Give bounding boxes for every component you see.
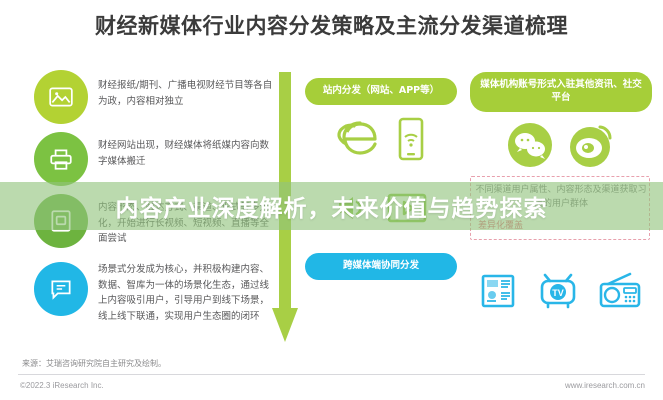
- newspaper-icon: [480, 272, 518, 315]
- wechat-icon: [507, 122, 553, 173]
- right-bottom-icons: TV: [470, 272, 652, 315]
- page-title: 财经新媒体行业内容分发策略及主流分发渠道梳理: [0, 10, 663, 40]
- website-url[interactable]: www.iresearch.com.cn: [565, 381, 645, 390]
- tv-icon: TV: [538, 272, 578, 315]
- copyright-text: ©2022.3 iResearch Inc.: [20, 381, 104, 390]
- right-top-pill: 媒体机构账号形式入驻其他资讯、社交平台: [470, 72, 652, 112]
- infographic-page: 财经新媒体行业内容分发策略及主流分发渠道梳理 财经报纸/期刊、广播电视财经节目等…: [0, 0, 663, 400]
- footer-divider: [18, 374, 645, 375]
- weibo-icon: [569, 122, 615, 173]
- list-item-label: 财经报纸/期刊、广播电视财经节目等各自为政，内容相对独立: [98, 70, 274, 109]
- middle-column: 站内分发（网站、APP等）: [305, 78, 457, 280]
- right-top-icons: [470, 122, 652, 173]
- ie-browser-icon: [337, 117, 383, 166]
- list-item-label: 场景式分发成为核心，并积极构建内容、数据、智库为一体的场景化生态，通过线上内容吸…: [98, 262, 274, 325]
- middle-bottom-pill: 跨媒体端协同分发: [305, 253, 457, 280]
- list-item: 财经报纸/期刊、广播电视财经节目等各自为政，内容相对独立: [34, 70, 274, 124]
- svg-text:TV: TV: [552, 288, 564, 298]
- printer-icon: [34, 132, 88, 186]
- list-item-label: 财经网站出现，财经媒体将纸媒内容向数字媒体搬迁: [98, 132, 274, 169]
- image-icon: [34, 70, 88, 124]
- middle-top-icons: [305, 117, 457, 166]
- radio-icon: [598, 272, 642, 315]
- smartphone-wifi-icon: [397, 117, 425, 166]
- overlay-banner: 内容产业深度解析，未来价值与趋势探索: [0, 182, 663, 230]
- chat-icon: [34, 262, 88, 316]
- list-item: 场景式分发成为核心，并积极构建内容、数据、智库为一体的场景化生态，通过线上内容吸…: [34, 262, 274, 325]
- middle-top-pill: 站内分发（网站、APP等）: [305, 78, 457, 105]
- overlay-banner-text: 内容产业深度解析，未来价值与趋势探索: [116, 189, 548, 223]
- list-item: 财经网站出现，财经媒体将纸媒内容向数字媒体搬迁: [34, 132, 274, 186]
- right-column: 媒体机构账号形式入驻其他资讯、社交平台: [470, 72, 652, 173]
- source-note: 来源：艾瑞咨询研究院自主研究及绘制。: [22, 358, 166, 369]
